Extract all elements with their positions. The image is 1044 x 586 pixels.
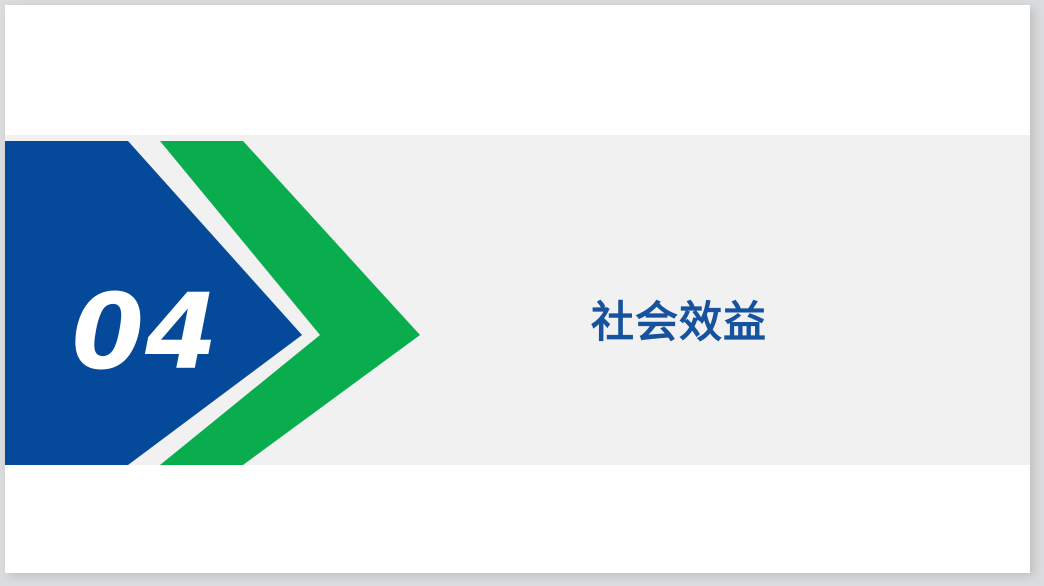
section-title: 社会效益 (591, 297, 767, 349)
section-number: 04 (65, 277, 225, 387)
slide-canvas: 04 社会效益 (5, 5, 1030, 573)
presentation-slide-viewport: 04 社会效益 (0, 0, 1044, 586)
